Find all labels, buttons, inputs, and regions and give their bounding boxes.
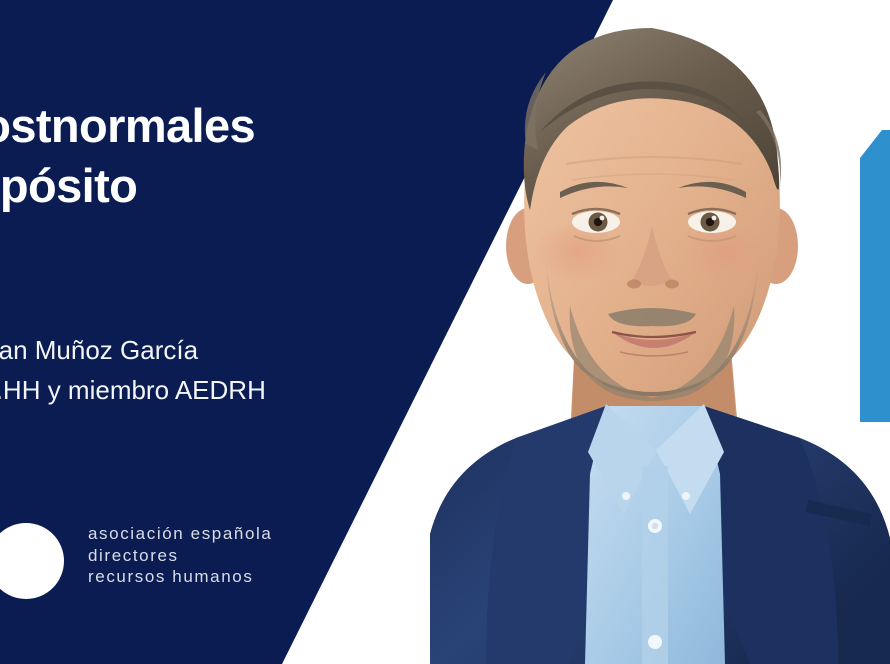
speaker-role: de RR.HH y miembro AEDRH — [0, 370, 562, 410]
logo-line-1: asociación española — [88, 524, 272, 543]
accent-blue-block — [860, 130, 890, 422]
logo-line-2: directores — [88, 545, 272, 567]
logo-line-3: recursos humanos — [88, 566, 272, 588]
aedrh-logo: asociación española directores recursos … — [0, 505, 304, 615]
aedrh-logo-mark-icon — [0, 513, 68, 609]
headline-line-1: os postnormales — [0, 99, 255, 152]
speaker-name: fael Juan Muñoz García — [0, 335, 198, 365]
presentation-slide: os postnormales y propósito fael Juan Mu… — [0, 0, 890, 664]
aedrh-logo-text: asociación española directores recursos … — [88, 523, 272, 588]
speaker-info: fael Juan Muñoz García de RR.HH y miembr… — [0, 330, 562, 410]
slide-headline: os postnormales y propósito — [0, 96, 588, 216]
headline-line-2: y propósito — [0, 156, 588, 216]
